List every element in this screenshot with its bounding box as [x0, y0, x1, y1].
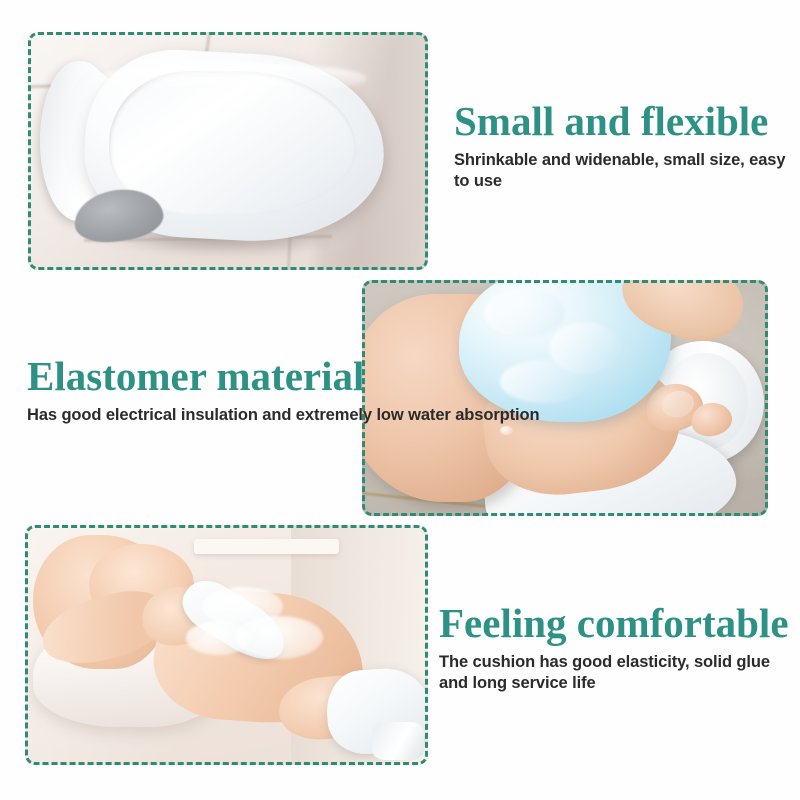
- foot-rest-suction-cup: [372, 722, 424, 760]
- loofah-fold: [484, 289, 565, 336]
- wall-trim: [194, 539, 339, 553]
- foot-rest-product: [40, 53, 384, 248]
- feature-photo-feeling-comfortable: [25, 525, 428, 765]
- feature-description: Has good electrical insulation and extre…: [27, 405, 539, 426]
- feature-heading: Elastomer material: [27, 355, 539, 398]
- feature-text-feeling-comfortable: Feeling comfortable The cushion has good…: [439, 602, 800, 695]
- photo-content-1: [28, 32, 428, 270]
- feature-description: Shrinkable and widenable, small size, ea…: [454, 150, 800, 193]
- feature-description: The cushion has good elasticity, solid g…: [439, 652, 800, 695]
- shaving-foam: [186, 621, 250, 655]
- feature-text-elastomer-material: Elastomer material Has good electrical i…: [27, 355, 539, 426]
- feature-heading: Small and flexible: [454, 100, 800, 143]
- feature-photo-small-and-flexible: [28, 32, 428, 270]
- product-infographic: Small and flexible Shrinkable and widena…: [0, 0, 800, 800]
- feature-heading: Feeling comfortable: [439, 602, 800, 645]
- photo-content-3: [25, 525, 428, 765]
- feature-text-small-and-flexible: Small and flexible Shrinkable and widena…: [454, 100, 800, 193]
